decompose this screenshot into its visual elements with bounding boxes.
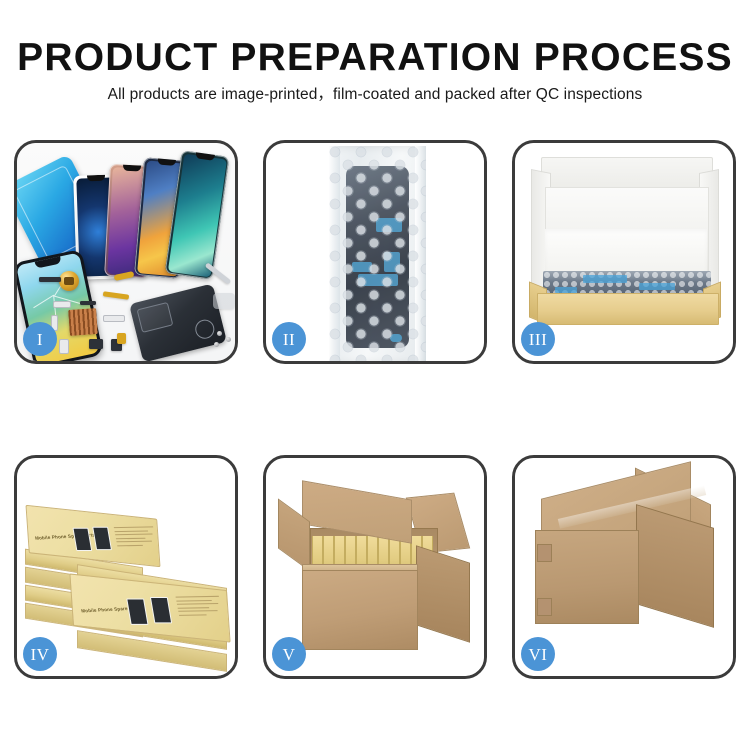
- step-badge-6: VI: [521, 637, 555, 671]
- copper-shield-pad: [68, 308, 98, 336]
- sim-tray: [59, 339, 69, 354]
- process-step-4: Mobile Phone Spare Parts Mobile Phone Sp…: [14, 455, 238, 679]
- process-step-2: II: [263, 140, 487, 364]
- bubble-wrap-pouch: [329, 146, 426, 361]
- box-front-panel: [537, 293, 719, 325]
- step-badge-4: IV: [23, 637, 57, 671]
- page-subtitle: All products are image-printed，film-coat…: [0, 84, 750, 106]
- step-4-image: Mobile Phone Spare Parts Mobile Phone Sp…: [17, 458, 235, 676]
- flex-cable-b: [103, 291, 129, 300]
- step-badge-3: III: [521, 322, 555, 356]
- small-chip: [80, 301, 96, 305]
- carton-side-right: [416, 545, 470, 643]
- earpiece-chip: [39, 277, 61, 282]
- step-badge-1: I: [23, 322, 57, 356]
- process-step-grid: I II: [14, 140, 736, 680]
- step-1-image: I: [17, 143, 235, 361]
- process-step-5: V: [263, 455, 487, 679]
- step-5-image: V: [266, 458, 484, 676]
- battery-connector: [117, 333, 126, 344]
- page-title: PRODUCT PREPARATION PROCESS: [0, 36, 750, 80]
- speaker-module: [59, 271, 79, 291]
- screw-3: [214, 342, 219, 347]
- step-badge-2: II: [272, 322, 306, 356]
- screw-1: [217, 331, 222, 336]
- process-step-3: III: [512, 140, 736, 364]
- step-2-image: II: [266, 143, 484, 361]
- screw-2: [226, 337, 231, 342]
- white-flex-c: [103, 315, 125, 322]
- carton-handle-notch-top: [537, 544, 552, 562]
- carton-front-panel: [302, 570, 418, 650]
- carton-handle-notch-bottom: [537, 598, 552, 616]
- infographic-page: PRODUCT PREPARATION PROCESS All products…: [0, 0, 750, 750]
- white-flex-a: [53, 301, 71, 308]
- foam-padding: [545, 229, 707, 273]
- bubble-texture-shade: [329, 146, 426, 361]
- process-step-6: VI: [512, 455, 736, 679]
- step-6-image: VI: [515, 458, 733, 676]
- tool-pad: [213, 293, 235, 309]
- taptic-chip: [89, 339, 103, 349]
- process-step-1: I: [14, 140, 238, 364]
- step-badge-5: V: [272, 637, 306, 671]
- step-3-image: III: [515, 143, 733, 361]
